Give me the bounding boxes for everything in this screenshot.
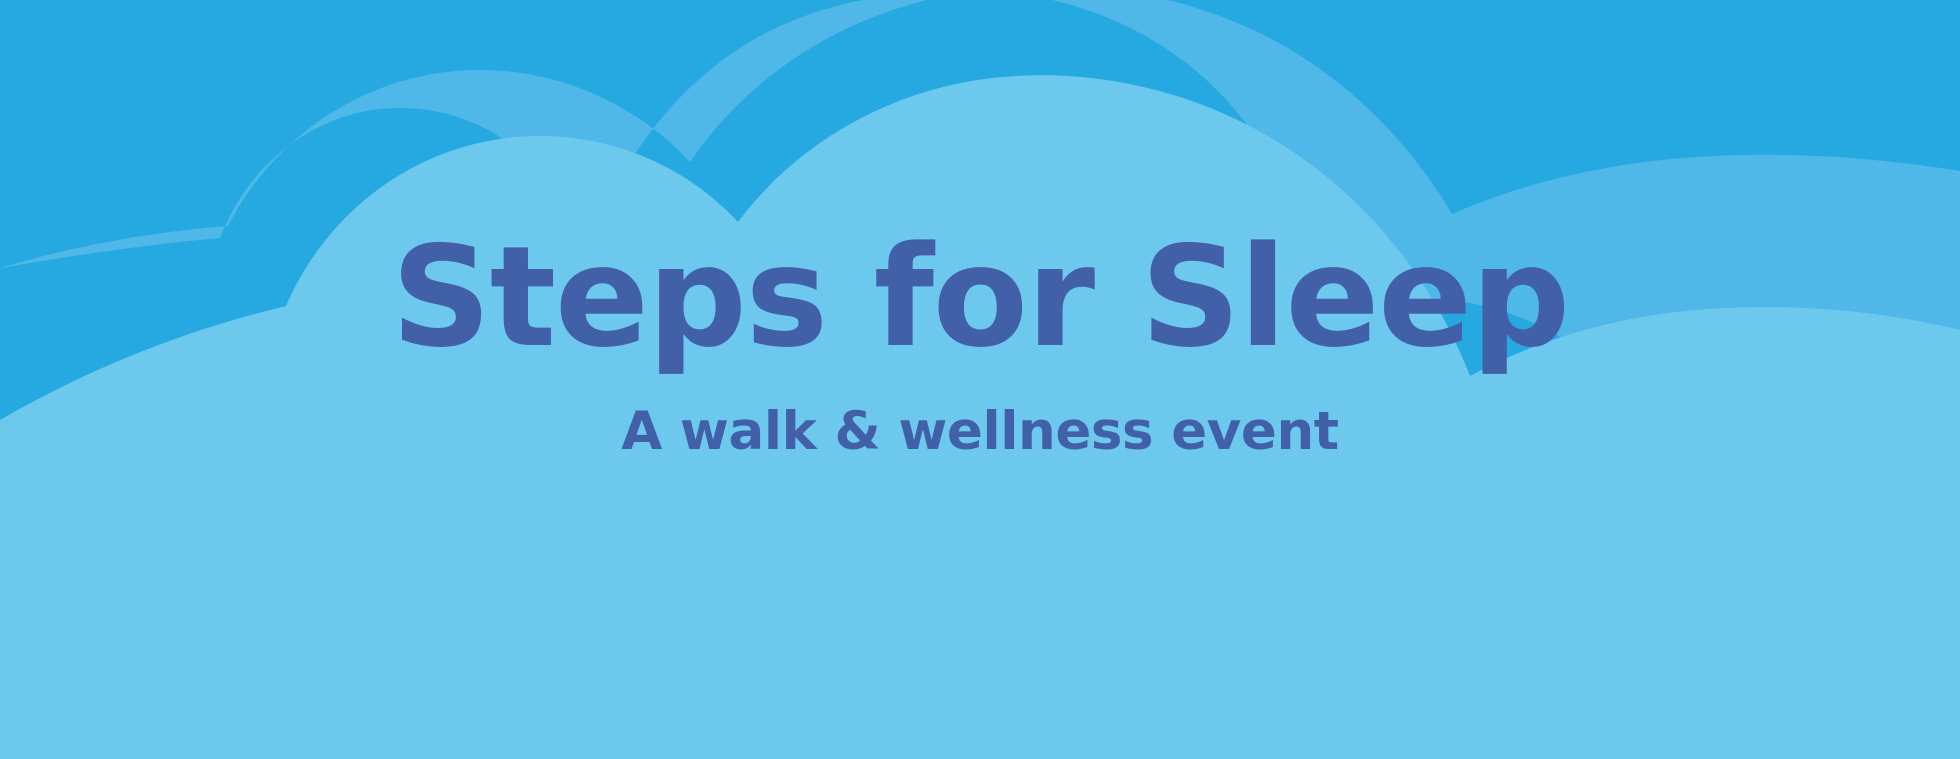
cloud-illustration: [0, 0, 1960, 759]
steps-for-sleep-banner: Steps for Sleep A walk & wellness event: [0, 0, 1960, 759]
